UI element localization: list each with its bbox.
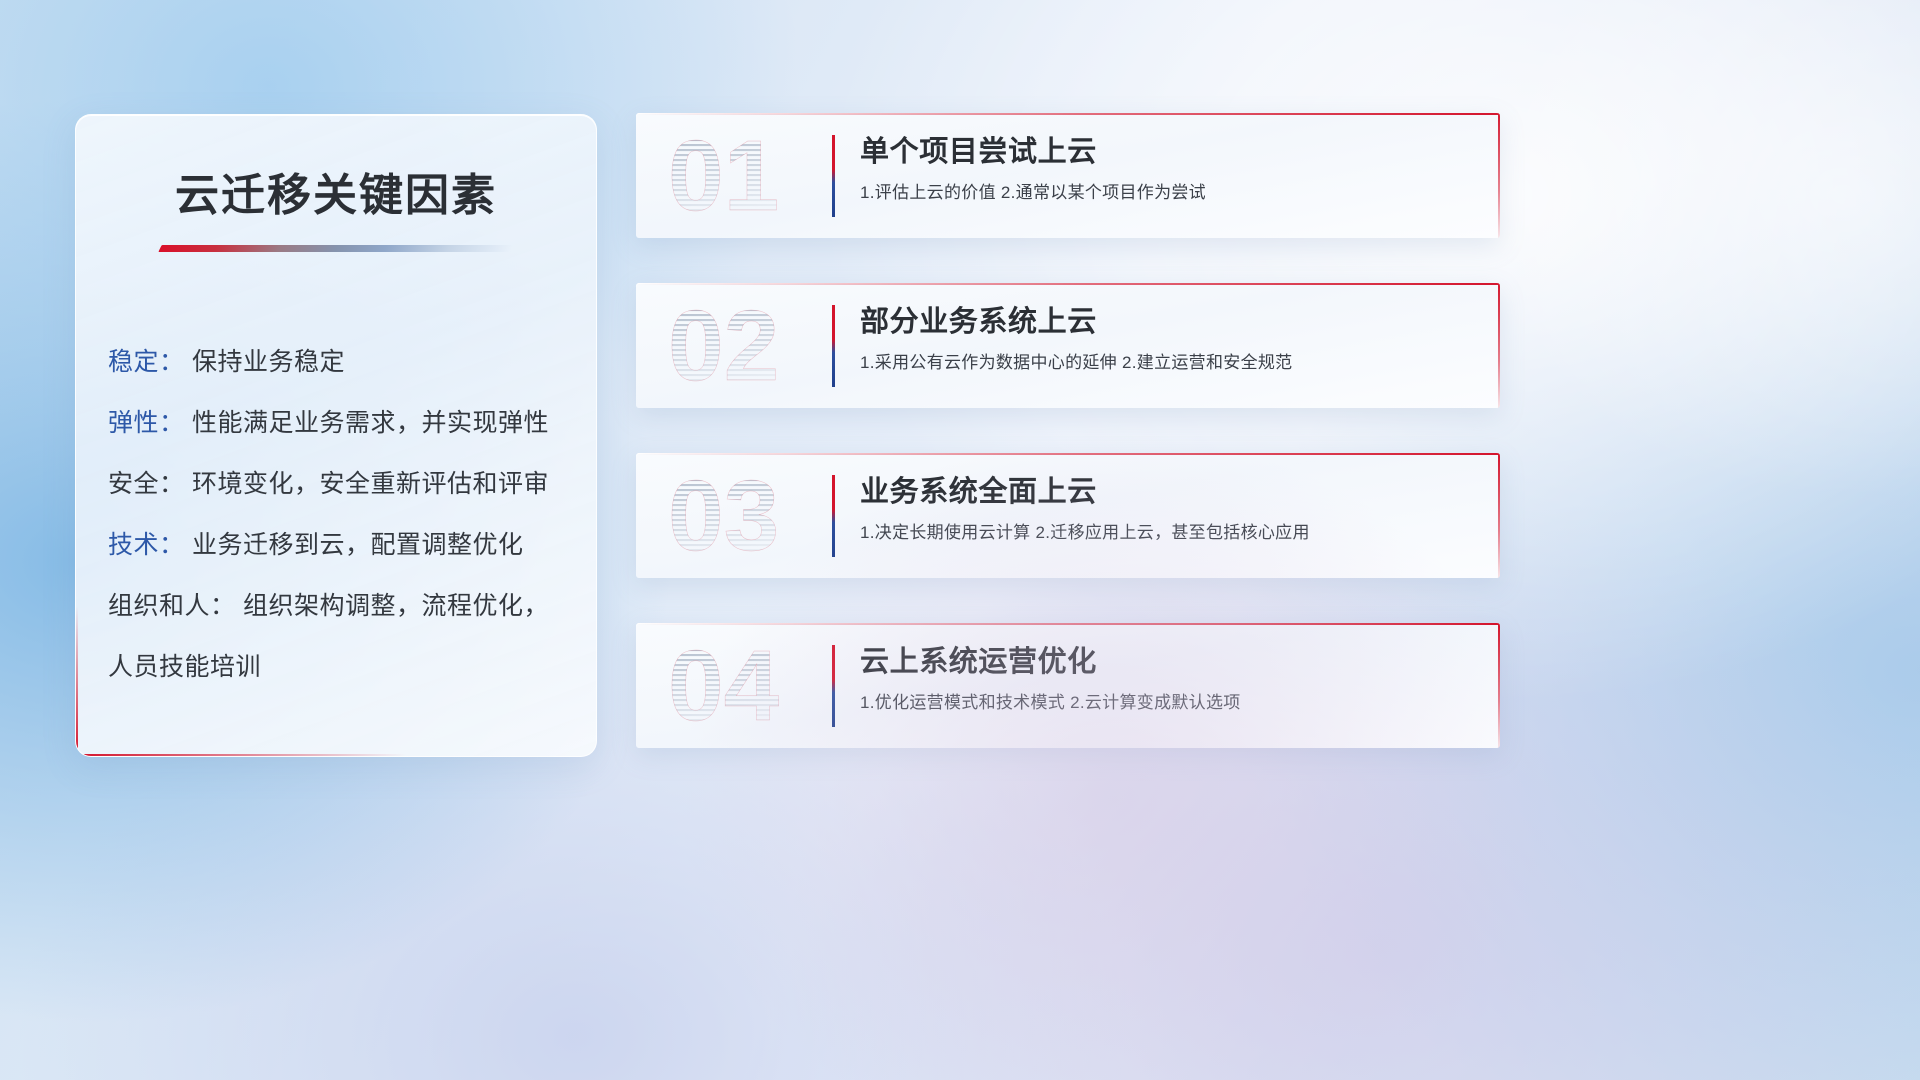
slide-canvas: 云迁移关键因素 稳定： 保持业务稳定 弹性： 性能满足业务需求，并实现弹性 安全… [0, 0, 1920, 1080]
card-description: 1.评估上云的价值 2.通常以某个项目作为尝试 [860, 181, 1480, 205]
factor-value: 保持业务稳定 [192, 348, 345, 376]
card-description: 1.优化运营模式和技术模式 2.云计算变成默认选项 [860, 691, 1480, 715]
card-title: 部分业务系统上云 [860, 303, 1480, 341]
svg-text:03: 03 [668, 464, 779, 568]
card-top-accent [636, 623, 1500, 625]
list-item: 人员技能培训 [108, 637, 596, 698]
list-item: 组织和人： 组织架构调整，流程优化， [108, 576, 596, 637]
svg-text:02: 02 [668, 294, 779, 398]
card-divider [832, 305, 835, 387]
factor-label: 技术： [108, 531, 185, 559]
card-right-accent [1498, 113, 1500, 238]
card-body: 业务系统全面上云 1.决定长期使用云计算 2.迁移应用上云，甚至包括核心应用 [860, 473, 1480, 545]
factor-value: 组织架构调整，流程优化， [243, 592, 549, 620]
factor-value: 业务迁移到云，配置调整优化 [192, 531, 524, 559]
svg-text:03: 03 [668, 464, 779, 568]
striped-number-icon: 03 03 [664, 464, 824, 568]
card-divider [832, 475, 835, 557]
striped-number-icon: 02 02 [664, 294, 824, 398]
stage-cards-column: 01 01 单个项目尝试上云 1.评估上云的价值 2.通常以某个项目作为尝试 [636, 113, 1500, 793]
stage-card[interactable]: 04 04 云上系统运营优化 1.优化运营模式和技术模式 2.云计算变成默认选项 [636, 623, 1500, 748]
svg-text:04: 04 [668, 634, 780, 738]
factor-label: 组织和人： [108, 592, 236, 620]
card-top-accent [636, 113, 1500, 115]
key-factors-panel: 云迁移关键因素 稳定： 保持业务稳定 弹性： 性能满足业务需求，并实现弹性 安全… [75, 114, 597, 757]
svg-text:04: 04 [668, 634, 780, 738]
key-factors-list: 稳定： 保持业务稳定 弹性： 性能满足业务需求，并实现弹性 安全： 环境变化，安… [76, 252, 596, 698]
page-title: 云迁移关键因素 [76, 115, 596, 223]
list-item: 稳定： 保持业务稳定 [108, 332, 596, 393]
card-body: 云上系统运营优化 1.优化运营模式和技术模式 2.云计算变成默认选项 [860, 643, 1480, 715]
stage-card[interactable]: 01 01 单个项目尝试上云 1.评估上云的价值 2.通常以某个项目作为尝试 [636, 113, 1500, 238]
factor-label: 弹性： [108, 409, 185, 437]
factor-value: 环境变化，安全重新评估和评审 [192, 470, 549, 498]
card-right-accent [1498, 283, 1500, 408]
stage-card[interactable]: 02 02 部分业务系统上云 1.采用公有云作为数据中心的延伸 2.建立运营和安… [636, 283, 1500, 408]
title-underline-gradient [158, 245, 513, 252]
factor-label: 安全： [108, 470, 185, 498]
card-right-accent [1498, 623, 1500, 748]
factor-value: 人员技能培训 [108, 653, 261, 681]
card-body: 部分业务系统上云 1.采用公有云作为数据中心的延伸 2.建立运营和安全规范 [860, 303, 1480, 375]
panel-bottom-accent-line [76, 754, 406, 756]
panel-left-accent-line [76, 606, 78, 756]
svg-text:01: 01 [668, 124, 779, 228]
card-description: 1.采用公有云作为数据中心的延伸 2.建立运营和安全规范 [860, 351, 1480, 375]
svg-text:02: 02 [668, 294, 779, 398]
card-top-accent [636, 453, 1500, 455]
list-item: 弹性： 性能满足业务需求，并实现弹性 [108, 393, 596, 454]
card-title: 云上系统运营优化 [860, 643, 1480, 681]
list-item: 安全： 环境变化，安全重新评估和评审 [108, 454, 596, 515]
stage-card[interactable]: 03 03 业务系统全面上云 1.决定长期使用云计算 2.迁移应用上云，甚至包括… [636, 453, 1500, 578]
card-right-accent [1498, 453, 1500, 578]
card-description: 1.决定长期使用云计算 2.迁移应用上云，甚至包括核心应用 [860, 521, 1480, 545]
card-title: 业务系统全面上云 [860, 473, 1480, 511]
list-item: 技术： 业务迁移到云，配置调整优化 [108, 515, 596, 576]
svg-text:01: 01 [668, 124, 779, 228]
card-title: 单个项目尝试上云 [860, 133, 1480, 171]
card-divider [832, 645, 835, 727]
factor-label: 稳定： [108, 348, 185, 376]
card-divider [832, 135, 835, 217]
factor-value: 性能满足业务需求，并实现弹性 [192, 409, 549, 437]
card-top-accent [636, 283, 1500, 285]
card-body: 单个项目尝试上云 1.评估上云的价值 2.通常以某个项目作为尝试 [860, 133, 1480, 205]
striped-number-icon: 04 04 [664, 634, 824, 738]
striped-number-icon: 01 01 [664, 124, 824, 228]
